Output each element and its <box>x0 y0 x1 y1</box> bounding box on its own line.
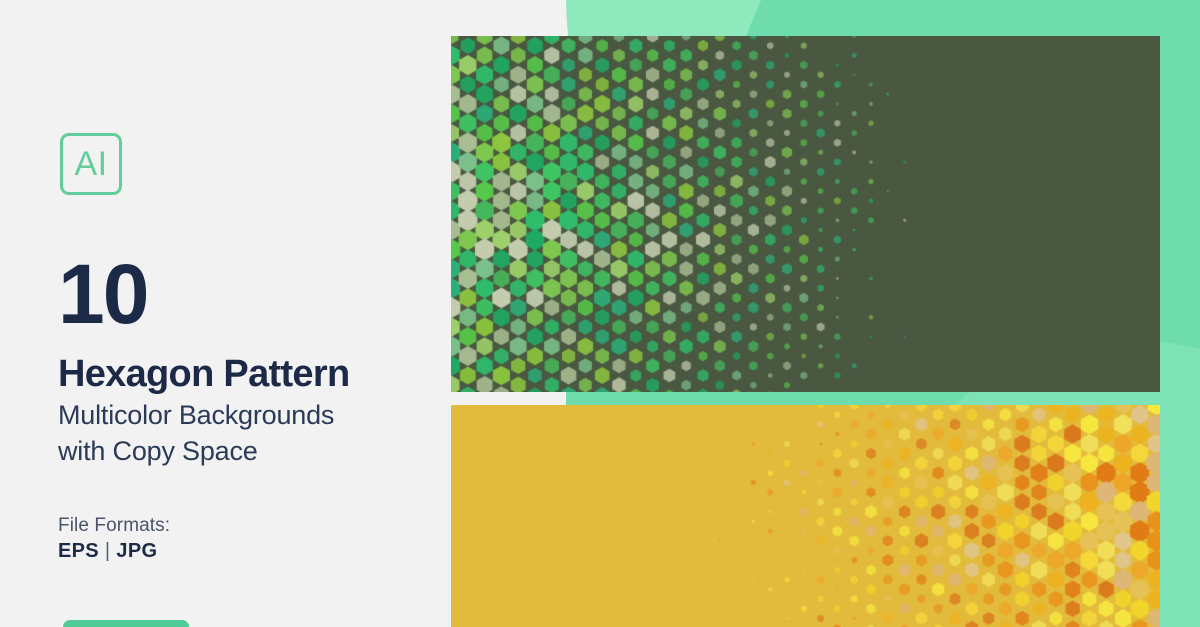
green-hexagon-canvas <box>451 36 1160 392</box>
file-formats-label: File Formats: <box>58 515 170 537</box>
page-title: Hexagon Pattern <box>58 355 349 393</box>
preview-canvas: AI 10 Hexagon Pattern Multicolor Backgro… <box>0 0 1200 627</box>
page-subtitle: Multicolor Backgrounds with Copy Space <box>58 398 334 469</box>
info-panel: AI 10 Hexagon Pattern Multicolor Backgro… <box>0 0 451 627</box>
file-format-separator: | <box>99 540 117 562</box>
yellow-hexagon-preview[interactable] <box>451 405 1160 627</box>
file-format-eps: EPS <box>58 540 99 562</box>
yellow-hexagon-canvas <box>451 405 1160 627</box>
page-subtitle-line-2: with Copy Space <box>58 434 334 470</box>
item-count: 10 <box>58 252 147 336</box>
file-formats-value: EPS|JPG <box>58 540 157 563</box>
adobe-illustrator-badge: AI <box>60 133 122 195</box>
cta-button[interactable] <box>63 620 189 627</box>
adobe-illustrator-badge-label: AI <box>74 147 107 181</box>
green-hexagon-preview[interactable] <box>451 36 1160 392</box>
page-subtitle-line-1: Multicolor Backgrounds <box>58 398 334 434</box>
file-format-jpg: JPG <box>116 540 157 562</box>
